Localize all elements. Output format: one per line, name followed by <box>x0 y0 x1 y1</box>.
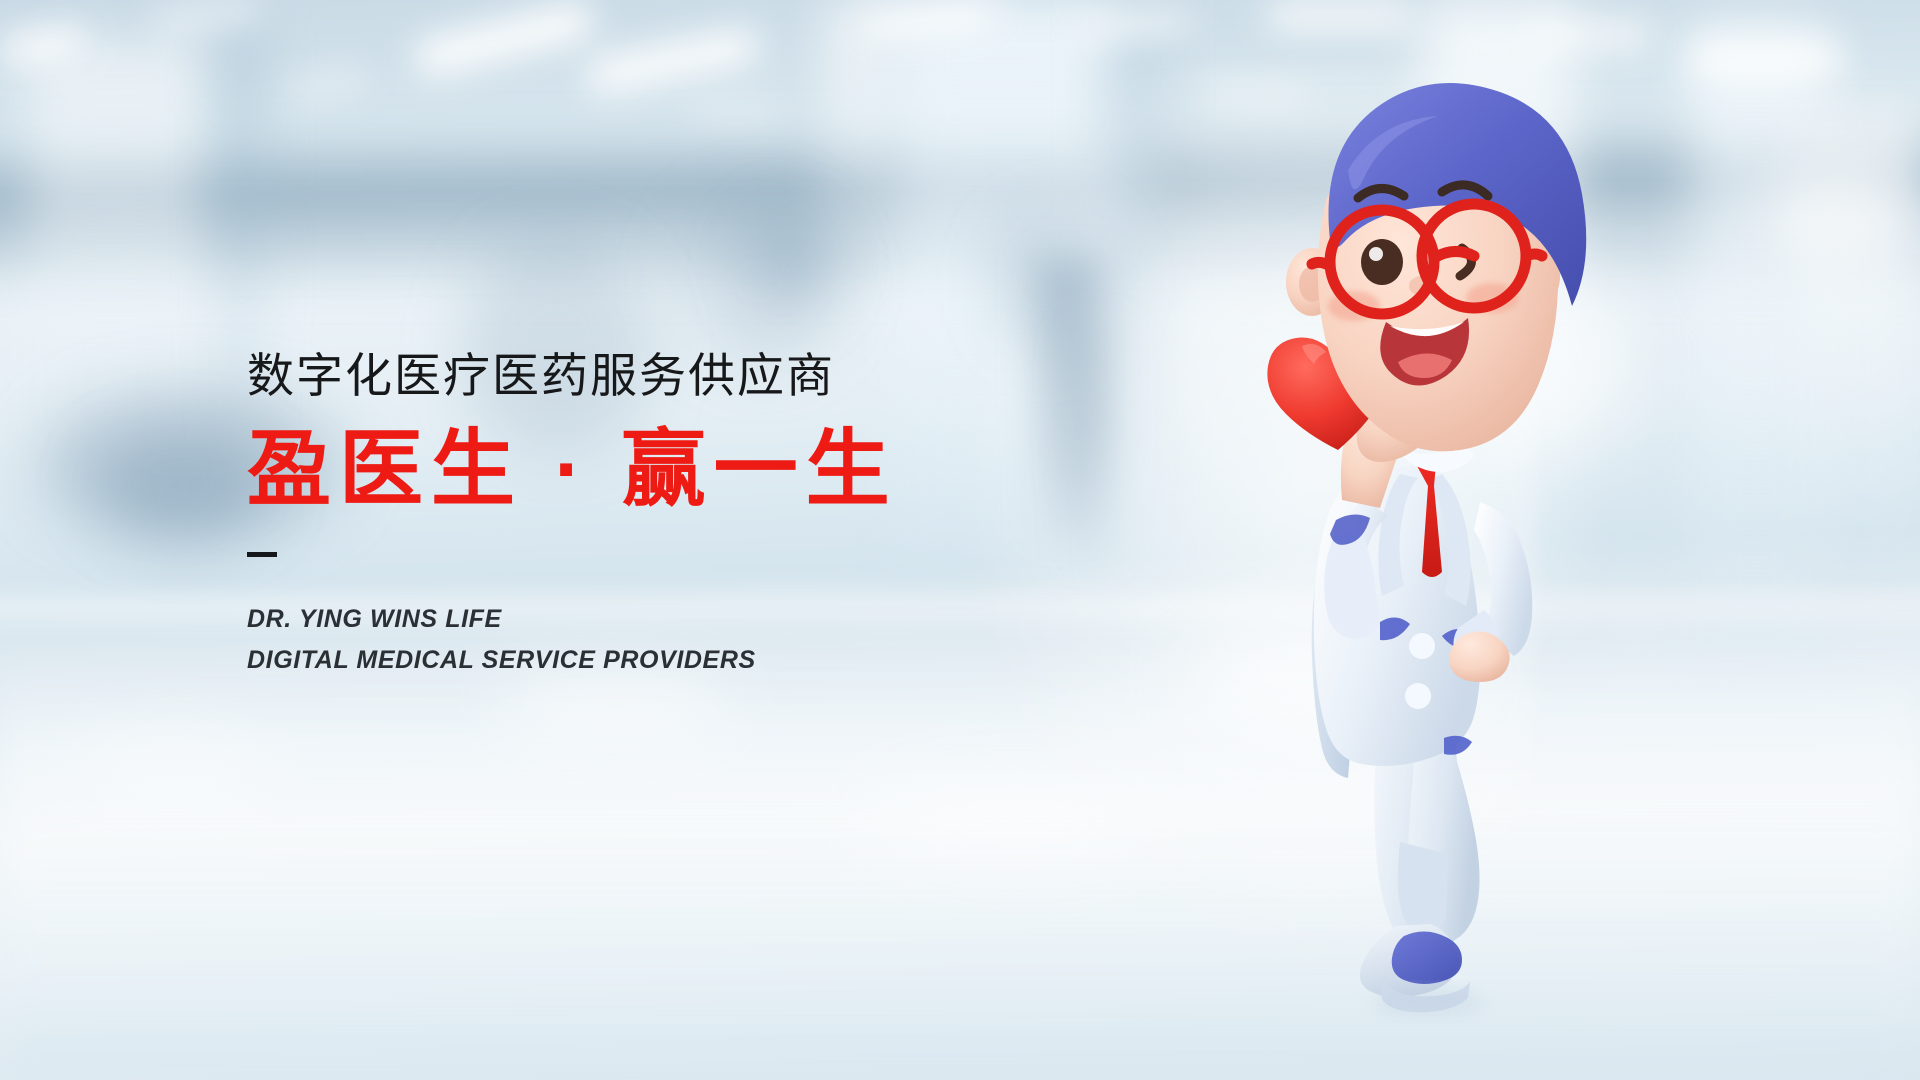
background-ceiling-light <box>1690 43 1844 75</box>
background-blur-blob <box>749 216 826 313</box>
slogan-chinese: 盈医生 · 赢一生 <box>247 424 1147 515</box>
subtitle-english-line-2: DIGITAL MEDICAL SERVICE PROVIDERS <box>247 640 1147 681</box>
background-blur-blob <box>96 432 269 540</box>
background-ceiling-light <box>1267 3 1411 29</box>
doctor-mascot <box>1230 50 1650 1050</box>
background-pillar <box>826 0 893 281</box>
divider-rule <box>247 552 277 557</box>
background-ceiling-light <box>691 103 777 118</box>
mascot-eye-open <box>1361 239 1403 285</box>
mascot-shoes <box>1360 924 1484 1014</box>
subtitle-english-line-1: DR. YING WINS LIFE <box>247 599 1147 640</box>
subtitle-english: DR. YING WINS LIFE DIGITAL MEDICAL SERVI… <box>247 599 1147 680</box>
hero-banner: 数字化医疗医药服务供应商 盈医生 · 赢一生 DR. YING WINS LIF… <box>0 0 1920 1080</box>
background-window-glow <box>1766 173 1900 259</box>
background-floor-glow <box>77 734 269 799</box>
coat-button <box>1405 683 1431 709</box>
hero-copy-block: 数字化医疗医药服务供应商 盈医生 · 赢一生 DR. YING WINS LIF… <box>247 350 1147 680</box>
coat-button <box>1409 633 1435 659</box>
background-ceiling-light <box>1536 22 1651 48</box>
headline-chinese: 数字化医疗医药服务供应商 <box>247 350 1147 402</box>
